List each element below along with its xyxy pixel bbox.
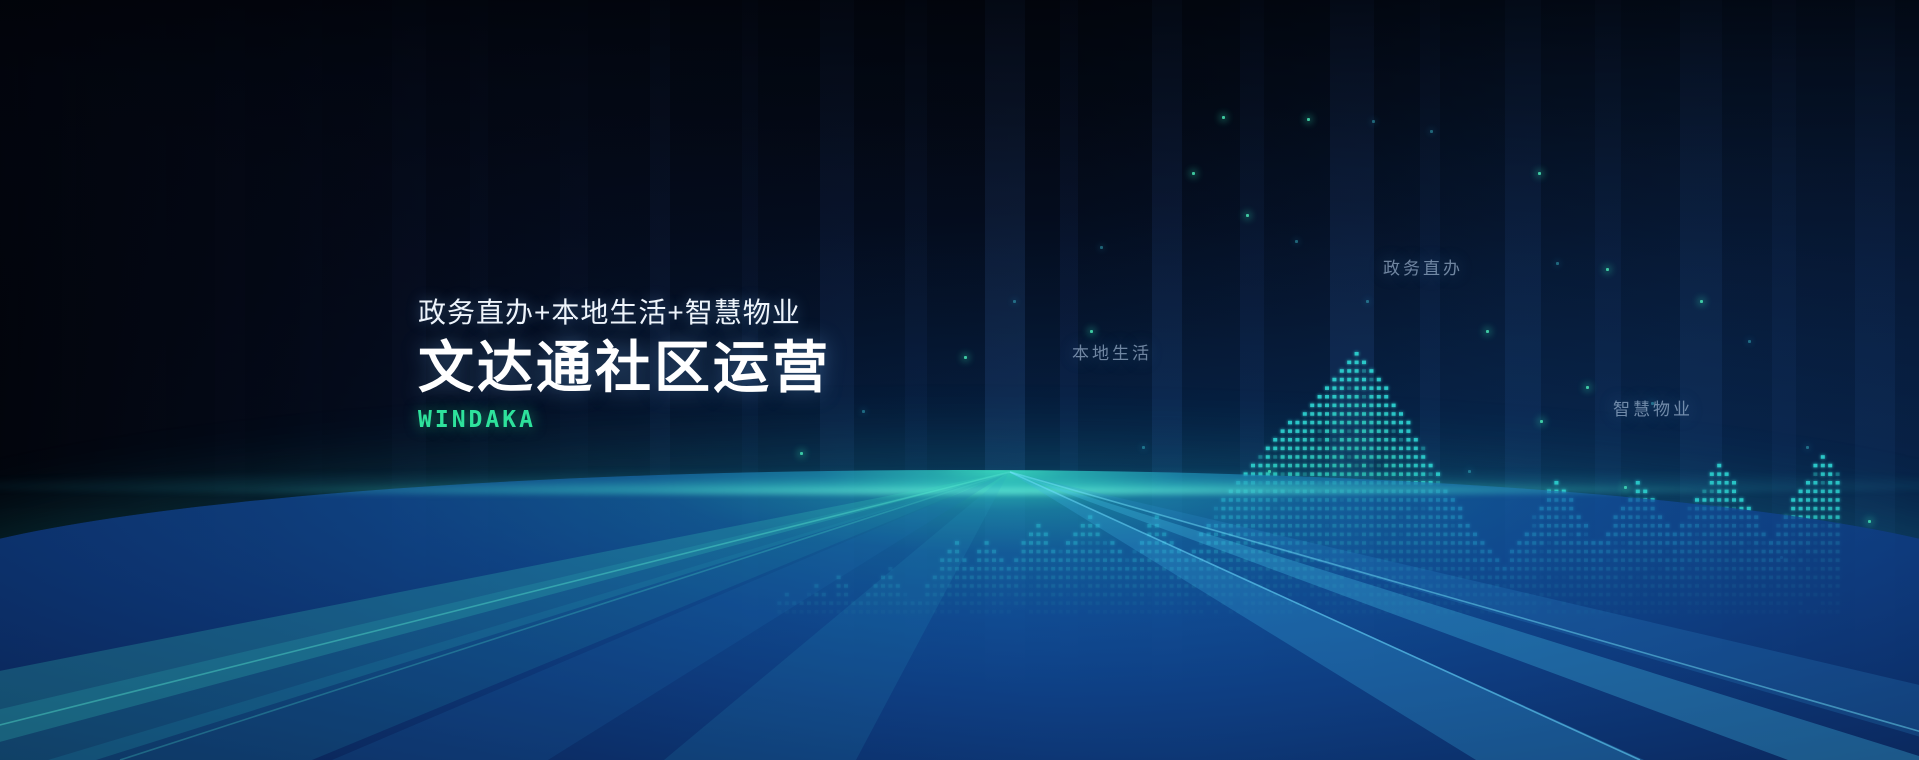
hero-banner: 政务直办本地生活智慧物业 政务直办+本地生活+智慧物业 文达通社区运营 WIND… [0, 0, 1919, 760]
perspective-rays [0, 470, 1919, 760]
floating-label: 智慧物业 [1613, 395, 1693, 420]
floating-label: 政务直办 [1383, 254, 1463, 279]
floating-label: 本地生活 [1072, 339, 1152, 364]
hero-subtitle: 政务直办+本地生活+智慧物业 [418, 296, 1058, 330]
hero-title: 文达通社区运营 [418, 336, 1058, 401]
hero-text-block: 政务直办+本地生活+智慧物业 文达通社区运营 WINDAKA [418, 296, 1058, 433]
brand-wordmark: WINDAKA [418, 407, 1058, 433]
